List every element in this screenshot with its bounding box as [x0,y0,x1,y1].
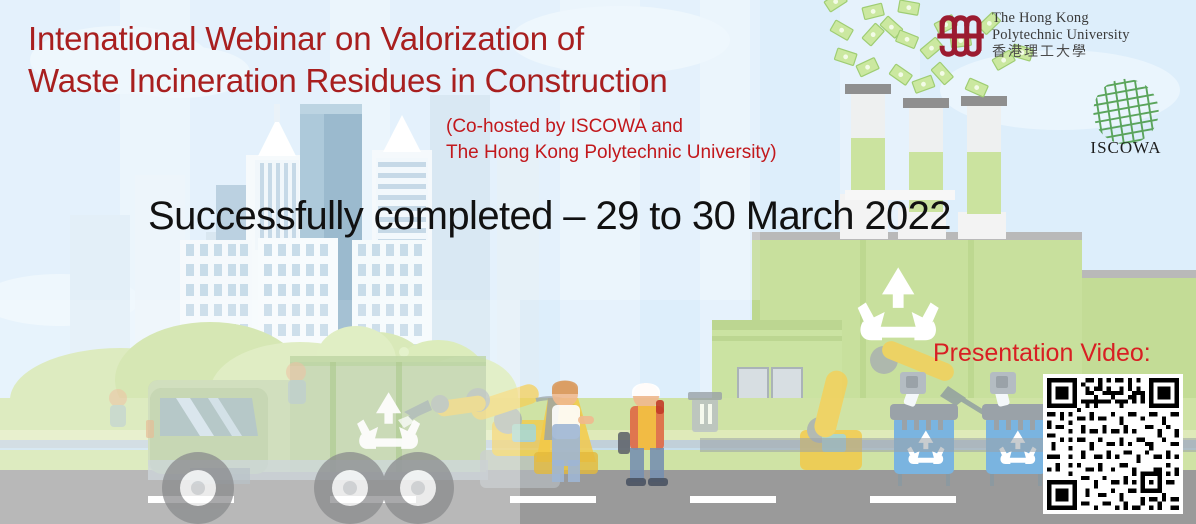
title-line-1: Intenational Webinar on Valorization of [28,20,584,57]
presentation-video-label: Presentation Video: [933,338,1151,368]
webinar-banner: Intenational Webinar on Valorization ofW… [0,0,1196,524]
iscowa-wordmark: ISCOWA [1076,138,1176,158]
subtitle-line-2: The Hong Kong Polytechnic University) [446,142,777,163]
polyu-line-1: The Hong Kong [992,10,1130,27]
polyu-chinese-name: 香港理工大學 [992,44,1130,62]
polyu-knot-emblem [932,8,988,64]
subtitle-line-1: (Co-hosted by ISCOWA and [446,116,683,137]
trash-bin-small [688,392,722,432]
page-title: Intenational Webinar on Valorization ofW… [28,18,668,102]
cohost-subtitle: (Co-hosted by ISCOWA andThe Hong Kong Po… [446,114,777,166]
polyu-logo: The Hong Kong Polytechnic University 香港理… [932,8,1140,70]
polyu-line-2: Polytechnic University [992,27,1130,44]
completion-headline: Successfully completed – 29 to 30 March … [148,192,951,240]
qr-code-matrix[interactable] [1043,374,1183,514]
presentation-video-qr-code[interactable] [1043,374,1183,514]
title-line-2: Waste Incineration Residues in Construct… [28,62,668,99]
polyu-wordmark: The Hong Kong Polytechnic University 香港理… [992,10,1130,62]
